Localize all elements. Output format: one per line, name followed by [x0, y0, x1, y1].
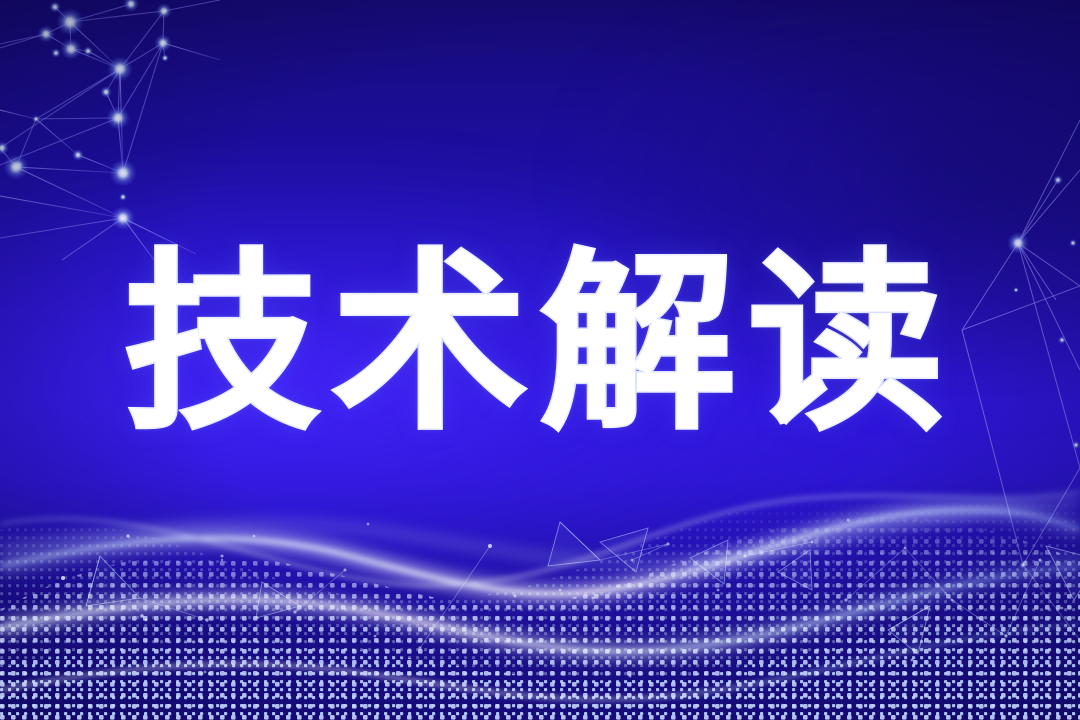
floating-particles-overlay	[0, 0, 1080, 720]
poster-canvas: 技术解读	[0, 0, 1080, 720]
